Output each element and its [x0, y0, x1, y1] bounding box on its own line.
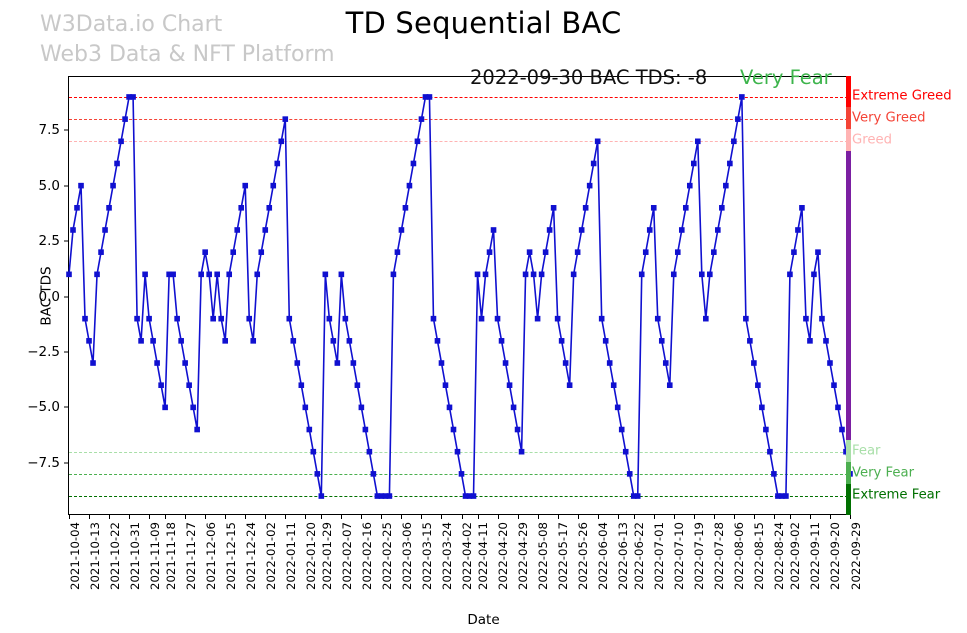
tds-point [335, 360, 341, 366]
x-tick-label: 2022-03-24 [440, 522, 454, 590]
x-tick-label: 2022-09-29 [849, 522, 863, 590]
tds-point [679, 227, 685, 233]
tds-point [739, 94, 745, 100]
tds-point [411, 161, 417, 167]
tds-point [471, 493, 477, 499]
tds-point [683, 205, 689, 211]
tds-point [415, 139, 421, 145]
tds-point [86, 338, 92, 344]
tds-point [274, 161, 280, 167]
tds-point [246, 316, 252, 322]
x-tick-label: 2022-02-16 [360, 522, 374, 590]
tds-point [170, 272, 176, 278]
tds-point [495, 316, 501, 322]
x-tick-label: 2021-11-18 [164, 522, 178, 590]
tds-point [311, 449, 317, 455]
zone-bar-extreme-fear [846, 484, 851, 515]
tds-point [595, 139, 601, 145]
tds-point [747, 338, 753, 344]
tds-point [114, 161, 120, 167]
tds-point [206, 272, 212, 278]
tds-point [811, 272, 817, 278]
tds-point [431, 316, 437, 322]
tds-point [547, 227, 553, 233]
tds-point [827, 360, 833, 366]
y-tick-label: 0.0 [39, 289, 69, 305]
tds-point [403, 205, 409, 211]
tds-point [555, 316, 561, 322]
tds-point [399, 227, 405, 233]
tds-point [771, 471, 777, 477]
tds-point [507, 382, 513, 388]
x-tick-label: 2022-06-04 [596, 522, 610, 590]
x-tick-label: 2022-01-20 [304, 522, 318, 590]
tds-point [539, 272, 545, 278]
tds-point [202, 249, 208, 255]
x-tick-label: 2022-04-20 [496, 522, 510, 590]
tds-point [543, 249, 549, 255]
tds-point [731, 139, 737, 145]
tds-point [222, 338, 228, 344]
tds-point [278, 139, 284, 145]
tds-point [347, 338, 353, 344]
tds-point [315, 471, 321, 477]
tds-point [755, 382, 761, 388]
tds-point [499, 338, 505, 344]
tds-point [371, 471, 377, 477]
x-tick-label: 2022-01-29 [320, 522, 334, 590]
x-tick-label: 2022-08-15 [752, 522, 766, 590]
tds-point [627, 471, 633, 477]
tds-point [603, 338, 609, 344]
tds-point [459, 471, 465, 477]
tds-point [535, 316, 541, 322]
x-tick-label: 2022-05-26 [576, 522, 590, 590]
tds-point [250, 338, 256, 344]
tds-point [703, 316, 709, 322]
tds-point [339, 272, 345, 278]
x-tick-label: 2021-12-06 [204, 522, 218, 590]
tds-point [763, 427, 769, 433]
tds-point [719, 205, 725, 211]
y-tick-label: 2.5 [39, 233, 69, 249]
tds-point [639, 272, 645, 278]
x-tick-label: 2022-09-02 [788, 522, 802, 590]
x-tick-label: 2021-12-15 [224, 522, 238, 590]
tds-point [198, 272, 204, 278]
x-tick-label: 2021-10-13 [88, 522, 102, 590]
zone-bar-very-fear [846, 462, 851, 484]
x-tick-label: 2022-03-15 [420, 522, 434, 590]
page-title: TD Sequential BAC [0, 6, 967, 40]
tds-point [266, 205, 272, 211]
tds-point [579, 227, 585, 233]
tds-point [599, 316, 605, 322]
tds-point [655, 316, 661, 322]
tds-point [178, 338, 184, 344]
tds-point [142, 272, 148, 278]
tds-point [282, 116, 288, 122]
tds-point [351, 360, 357, 366]
tds-point [587, 183, 593, 189]
tds-point [571, 272, 577, 278]
tds-point [218, 316, 224, 322]
tds-point [791, 249, 797, 255]
tds-point [162, 405, 168, 411]
tds-point [727, 161, 733, 167]
tds-point [254, 272, 260, 278]
x-tick-label: 2022-01-11 [284, 522, 298, 590]
tds-point [122, 116, 128, 122]
zone-bar-fear [846, 440, 851, 462]
tds-point [615, 405, 621, 411]
tds-point [759, 405, 765, 411]
tds-point [723, 183, 729, 189]
x-axis-label: Date [0, 612, 967, 628]
x-tick-label: 2022-06-22 [632, 522, 646, 590]
tds-point [691, 161, 697, 167]
tds-point [270, 183, 276, 189]
tds-point [583, 205, 589, 211]
tds-point [455, 449, 461, 455]
tds-point [94, 272, 100, 278]
tds-point [787, 272, 793, 278]
tds-point [226, 272, 232, 278]
tds-point [230, 249, 236, 255]
tds-point [527, 249, 533, 255]
tds-point [643, 249, 649, 255]
tds-point [687, 183, 693, 189]
x-tick-label: 2022-06-13 [616, 522, 630, 590]
tds-point [575, 249, 581, 255]
tds-point [102, 227, 108, 233]
tds-point [671, 272, 677, 278]
tds-point [743, 316, 749, 322]
zone-label-extreme-greed: Extreme Greed [852, 88, 952, 103]
zone-bar-very-greed [846, 107, 851, 129]
tds-point [491, 227, 497, 233]
tds-point [106, 205, 112, 211]
x-tick-label: 2022-07-01 [652, 522, 666, 590]
plot-area: BAC TDS 7.55.02.50.0−2.5−5.0−7.5 2021-10… [68, 76, 849, 515]
tds-point [407, 183, 413, 189]
tds-point [451, 427, 457, 433]
tds-point [234, 227, 240, 233]
tds-point [146, 316, 152, 322]
zone-bar-extreme-greed [846, 76, 851, 107]
tds-point [387, 493, 393, 499]
tds-point [675, 249, 681, 255]
tds-point [210, 316, 216, 322]
tds-point [751, 360, 757, 366]
tds-point [319, 493, 325, 499]
tds-point [835, 405, 841, 411]
tds-point [503, 360, 509, 366]
tds-point [479, 316, 485, 322]
tds-point [623, 449, 629, 455]
tds-point [487, 249, 493, 255]
tds-point [483, 272, 489, 278]
chart-canvas: TD Sequential BAC Date BAC TDS 7.55.02.5… [0, 0, 967, 633]
x-tick-label: 2022-02-07 [340, 522, 354, 590]
tds-point [435, 338, 441, 344]
tds-point [294, 360, 300, 366]
tds-point [823, 338, 829, 344]
tds-point [174, 316, 180, 322]
tds-point [331, 338, 337, 344]
tds-point [707, 272, 713, 278]
tds-point [363, 427, 369, 433]
x-tick-label: 2022-09-20 [828, 522, 842, 590]
tds-point [78, 183, 84, 189]
tds-point [186, 382, 192, 388]
tds-point [74, 205, 80, 211]
tds-point [238, 205, 244, 211]
tds-point [611, 382, 617, 388]
tds-point [98, 249, 104, 255]
zone-label-fear: Fear [852, 443, 880, 458]
x-tick-label: 2022-07-28 [712, 522, 726, 590]
tds-point [715, 227, 721, 233]
x-tick-label: 2022-07-19 [692, 522, 706, 590]
tds-point [258, 249, 264, 255]
tds-point [214, 272, 220, 278]
tds-point [651, 205, 657, 211]
tds-point [591, 161, 597, 167]
x-tick-label: 2022-03-06 [400, 522, 414, 590]
tds-point [66, 272, 72, 278]
tds-point [359, 405, 365, 411]
y-tick-label: −5.0 [27, 399, 69, 415]
tds-point [667, 382, 673, 388]
x-tick-label: 2022-07-10 [672, 522, 686, 590]
tds-point [803, 316, 809, 322]
tds-point [82, 316, 88, 322]
zone-label-very-greed: Very Greed [852, 111, 925, 126]
tds-point [807, 338, 813, 344]
tds-point [194, 427, 200, 433]
y-tick-label: 7.5 [39, 122, 69, 138]
tds-point [290, 338, 296, 344]
x-tick-label: 2021-10-22 [108, 522, 122, 590]
tds-point [515, 427, 521, 433]
tds-point [391, 272, 397, 278]
tds-point [523, 272, 529, 278]
tds-point [659, 338, 665, 344]
tds-point [303, 405, 309, 411]
tds-point [427, 94, 433, 100]
tds-point [511, 405, 517, 411]
tds-point [190, 405, 196, 411]
tds-point [699, 272, 705, 278]
zone-bar-neutral [846, 151, 851, 439]
tds-point [551, 205, 557, 211]
tds-series [69, 77, 850, 516]
tds-line [69, 97, 850, 496]
tds-point [647, 227, 653, 233]
tds-point [307, 427, 313, 433]
tds-point [695, 139, 701, 145]
tds-point [130, 94, 136, 100]
tds-point [799, 205, 805, 211]
tds-point [567, 382, 573, 388]
y-tick-label: 5.0 [39, 178, 69, 194]
tds-point [439, 360, 445, 366]
watermark-line-2: Web3 Data & NFT Platform [40, 40, 335, 70]
tds-point [158, 382, 164, 388]
tds-point [327, 316, 333, 322]
tds-point [154, 360, 160, 366]
tds-point [323, 272, 329, 278]
tds-point [767, 449, 773, 455]
x-tick-label: 2021-11-27 [184, 522, 198, 590]
x-tick-label: 2022-08-24 [772, 522, 786, 590]
x-tick-label: 2022-08-06 [732, 522, 746, 590]
tds-point [286, 316, 292, 322]
tds-point [262, 227, 268, 233]
tds-point [519, 449, 525, 455]
tds-point [395, 249, 401, 255]
tds-point [90, 360, 96, 366]
tds-point [110, 183, 116, 189]
y-tick-label: −2.5 [27, 344, 69, 360]
zone-bar-greed [846, 129, 851, 151]
current-reading-annotation: 2022-09-30 BAC TDS: -8 [470, 66, 707, 89]
tds-point [559, 338, 565, 344]
tds-point [711, 249, 717, 255]
tds-point [815, 249, 821, 255]
x-tick-label: 2022-01-02 [264, 522, 278, 590]
tds-point [531, 272, 537, 278]
x-tick-label: 2022-04-29 [516, 522, 530, 590]
tds-point [118, 139, 124, 145]
tds-point [242, 183, 248, 189]
tds-point [419, 116, 425, 122]
zone-label-extreme-fear: Extreme Fear [852, 488, 940, 503]
x-tick-label: 2021-12-24 [244, 522, 258, 590]
x-tick-label: 2022-04-02 [460, 522, 474, 590]
current-sentiment-annotation: Very Fear [740, 66, 832, 89]
y-tick-label: −7.5 [27, 455, 69, 471]
tds-point [138, 338, 144, 344]
x-tick-label: 2021-10-04 [68, 522, 82, 590]
tds-point [795, 227, 801, 233]
x-tick-label: 2021-10-31 [128, 522, 142, 590]
tds-point [735, 116, 741, 122]
x-tick-label: 2022-02-25 [380, 522, 394, 590]
tds-point [819, 316, 825, 322]
tds-point [343, 316, 349, 322]
tds-point [443, 382, 449, 388]
tds-point [783, 493, 789, 499]
tds-point [70, 227, 76, 233]
tds-point [150, 338, 156, 344]
x-tick-label: 2022-04-11 [476, 522, 490, 590]
tds-point [839, 427, 845, 433]
zone-label-very-fear: Very Fear [852, 465, 914, 480]
tds-point [475, 272, 481, 278]
tds-point [831, 382, 837, 388]
tds-point [367, 449, 373, 455]
tds-point [182, 360, 188, 366]
tds-point [635, 493, 641, 499]
tds-point [447, 405, 453, 411]
tds-point [134, 316, 140, 322]
x-tick-label: 2022-05-17 [556, 522, 570, 590]
x-tick-label: 2022-09-11 [808, 522, 822, 590]
tds-point [607, 360, 613, 366]
x-tick-label: 2022-05-08 [536, 522, 550, 590]
tds-point [619, 427, 625, 433]
tds-point [563, 360, 569, 366]
tds-point [355, 382, 361, 388]
tds-point [663, 360, 669, 366]
tds-point [299, 382, 305, 388]
x-tick-label: 2021-11-09 [148, 522, 162, 590]
zone-label-greed: Greed [852, 133, 892, 148]
